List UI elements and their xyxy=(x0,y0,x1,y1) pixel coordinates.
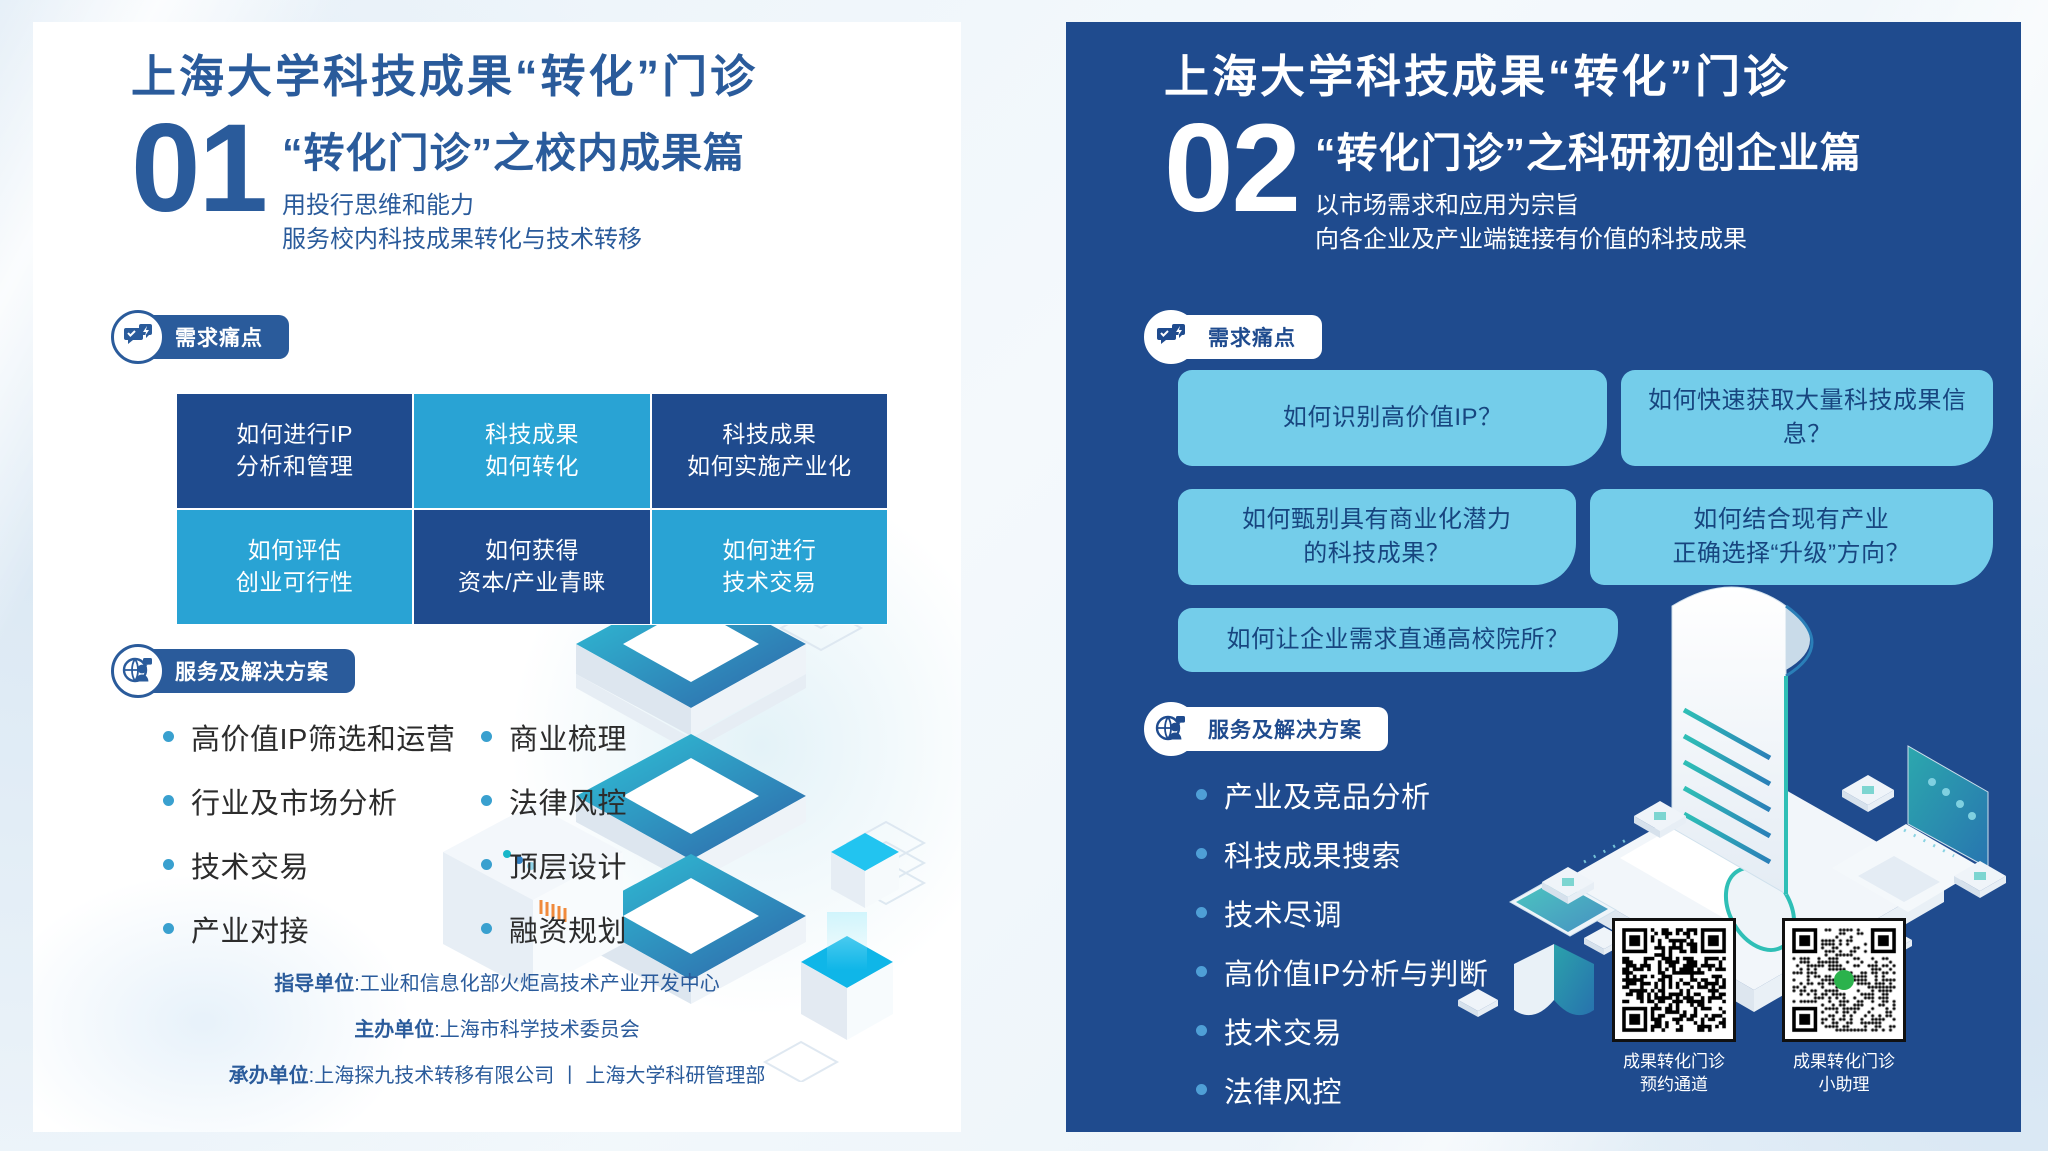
qr-caption-line-2: 小助理 xyxy=(1782,1074,1906,1097)
bullet-dot-icon xyxy=(1196,789,1207,800)
bullet-dot-icon xyxy=(163,731,174,742)
qr-caption-line-1: 成果转化门诊 xyxy=(1782,1051,1906,1074)
panel-01-services-col2: 商业梳理法律风控顶层设计融资规划 xyxy=(481,716,627,972)
service-list-item-label: 高价值IP分析与判断 xyxy=(1224,951,1488,993)
qr-code-caption: 成果转化门诊预约通道 xyxy=(1612,1051,1736,1097)
service-list-item: 团队分析 xyxy=(1196,1128,1488,1132)
panel-02-header: 上海大学科技成果“转化”门诊 02 “转化门诊”之科研初创企业篇 以市场需求和应… xyxy=(1164,52,2021,257)
service-list-item-label: 技术尽调 xyxy=(1224,892,1342,934)
service-list-item-label: 科技成果搜索 xyxy=(1224,833,1401,875)
panel-01-service-pill[interactable]: 服务及解决方案 xyxy=(111,644,355,698)
panel-01: 上海大学科技成果“转化”门诊 01 “转化门诊”之校内成果篇 用投行思维和能力 … xyxy=(33,22,961,1132)
service-list-item: 技术交易 xyxy=(1196,1010,1488,1052)
pain-bubble: 如何结合现有产业正确选择“升级”方向？ xyxy=(1590,489,1994,585)
bullet-dot-icon xyxy=(1196,848,1207,859)
panel-02-kicker: 上海大学科技成果“转化”门诊 xyxy=(1164,52,2021,102)
panel-01-services-col1: 高价值IP筛选和运营行业及市场分析技术交易产业对接 xyxy=(163,716,455,972)
service-list-item-label: 团队分析 xyxy=(1224,1128,1342,1132)
panel-02-number: 02 xyxy=(1164,116,1299,221)
bullet-dot-icon xyxy=(481,923,492,934)
panel-02-services: 产业及竞品分析科技成果搜索技术尽调高价值IP分析与判断技术交易法律风控团队分析 xyxy=(1196,774,1488,1132)
service-list-item: 科技成果搜索 xyxy=(1196,833,1488,875)
service-list-item: 产业对接 xyxy=(163,908,455,950)
service-list-item: 顶层设计 xyxy=(481,844,627,886)
credit-label: 主办单位 xyxy=(354,1019,434,1041)
panel-02-pain-bubbles: 如何识别高价值IP？如何快速获取大量科技成果信息？如何甄别具有商业化潜力的科技成… xyxy=(1178,370,1993,695)
panel-01-kicker: 上海大学科技成果“转化”门诊 xyxy=(131,52,961,102)
qr-caption-line-1: 成果转化门诊 xyxy=(1612,1051,1736,1074)
panel-01-header: 上海大学科技成果“转化”门诊 01 “转化门诊”之校内成果篇 用投行思维和能力 … xyxy=(131,52,961,257)
service-list-item: 融资规划 xyxy=(481,908,627,950)
service-list-item-label: 法律风控 xyxy=(509,780,627,822)
chat-lightning-icon xyxy=(1144,310,1198,364)
panel-02-tagline-1: 以市场需求和应用为宗旨 xyxy=(1315,189,1862,223)
qr-caption-line-2: 预约通道 xyxy=(1612,1074,1736,1097)
pain-bubble: 如何甄别具有商业化潜力的科技成果？ xyxy=(1178,489,1576,585)
service-list-item-label: 融资规划 xyxy=(509,908,627,950)
service-list-item-label: 法律风控 xyxy=(1224,1069,1342,1111)
panel-01-subtitle: “转化门诊”之校内成果篇 xyxy=(282,130,745,177)
credit-line: 主办单位:上海市科学技术委员会 xyxy=(33,1018,961,1042)
credit-line: 承办单位:上海探九技术转移有限公司 丨 上海大学科研管理部 xyxy=(33,1064,961,1088)
panel-01-pain-pill[interactable]: 需求痛点 xyxy=(111,310,289,364)
bullet-dot-icon xyxy=(481,859,492,870)
credit-line: 指导单位:工业和信息化部火炬高技术产业开发中心 xyxy=(33,972,961,996)
qr-code-caption: 成果转化门诊小助理 xyxy=(1782,1051,1906,1097)
pain-grid-cell: 科技成果如何转化 xyxy=(413,393,650,509)
panel-01-credits: 指导单位:工业和信息化部火炬高技术产业开发中心主办单位:上海市科学技术委员会承办… xyxy=(33,972,961,1110)
panel-02-subtitle: “转化门诊”之科研初创企业篇 xyxy=(1315,130,1862,177)
pain-grid-cell: 如何获得资本/产业青睐 xyxy=(413,509,650,625)
panel-01-tagline-2: 服务校内科技成果转化与技术转移 xyxy=(282,223,745,257)
service-list-item: 法律风控 xyxy=(481,780,627,822)
panel-02-tagline-2: 向各企业及产业端链接有价值的科技成果 xyxy=(1315,223,1862,257)
service-list-item: 行业及市场分析 xyxy=(163,780,455,822)
service-list-item: 技术尽调 xyxy=(1196,892,1488,934)
qr-code-image[interactable] xyxy=(1612,918,1736,1042)
bullet-dot-icon xyxy=(163,795,174,806)
pain-bubble: 如何让企业需求直通高校院所？ xyxy=(1178,608,1618,672)
infographic-stage: 上海大学科技成果“转化”门诊 01 “转化门诊”之校内成果篇 用投行思维和能力 … xyxy=(0,0,2048,1151)
service-list-item: 商业梳理 xyxy=(481,716,627,758)
pain-grid-cell: 科技成果如何实施产业化 xyxy=(651,393,888,509)
service-list-item: 高价值IP分析与判断 xyxy=(1196,951,1488,993)
bullet-dot-icon xyxy=(1196,966,1207,977)
service-list-item-label: 高价值IP筛选和运营 xyxy=(191,716,455,758)
pain-bubble: 如何快速获取大量科技成果信息？ xyxy=(1621,370,1993,466)
qr-code-image[interactable] xyxy=(1782,918,1906,1042)
service-list-item: 技术交易 xyxy=(163,844,455,886)
bullet-dot-icon xyxy=(163,859,174,870)
bullet-dot-icon xyxy=(163,923,174,934)
bullet-dot-icon xyxy=(1196,1084,1207,1095)
globe-person-icon xyxy=(1144,702,1198,756)
chat-lightning-icon xyxy=(111,310,165,364)
pain-bubble-row: 如何识别高价值IP？如何快速获取大量科技成果信息？ xyxy=(1178,370,1993,466)
pain-bubble-row: 如何让企业需求直通高校院所？ xyxy=(1178,608,1993,672)
panel-01-pain-grid: 如何进行IP分析和管理科技成果如何转化科技成果如何实施产业化如何评估创业可行性如… xyxy=(176,393,888,625)
bullet-dot-icon xyxy=(1196,907,1207,918)
pain-bubble-row: 如何甄别具有商业化潜力的科技成果？如何结合现有产业正确选择“升级”方向？ xyxy=(1178,489,1993,585)
credit-label: 指导单位 xyxy=(274,973,354,995)
service-list-item-label: 产业对接 xyxy=(191,908,309,950)
service-list-item-label: 技术交易 xyxy=(1224,1010,1342,1052)
credit-label: 承办单位 xyxy=(229,1065,309,1087)
qr-code-area: 成果转化门诊预约通道成果转化门诊小助理 xyxy=(1612,918,1906,1097)
panel-01-number: 01 xyxy=(131,116,266,221)
panel-02-pain-pill[interactable]: 需求痛点 xyxy=(1144,310,1322,364)
globe-person-icon xyxy=(111,644,165,698)
bullet-dot-icon xyxy=(481,731,492,742)
service-list-item-label: 顶层设计 xyxy=(509,844,627,886)
pain-grid-cell: 如何进行IP分析和管理 xyxy=(176,393,413,509)
wechat-logo-icon xyxy=(1834,970,1854,990)
pain-grid-cell: 如何进行技术交易 xyxy=(651,509,888,625)
bullet-dot-icon xyxy=(481,795,492,806)
panel-02-service-pill[interactable]: 服务及解决方案 xyxy=(1144,702,1388,756)
service-list-item: 法律风控 xyxy=(1196,1069,1488,1111)
service-list-item-label: 技术交易 xyxy=(191,844,309,886)
qr-code-pattern xyxy=(1615,921,1733,1039)
service-list-item-label: 商业梳理 xyxy=(509,716,627,758)
pain-grid-cell: 如何评估创业可行性 xyxy=(176,509,413,625)
service-list-item-label: 行业及市场分析 xyxy=(191,780,398,822)
panel-01-tagline-1: 用投行思维和能力 xyxy=(282,189,745,223)
pain-bubble: 如何识别高价值IP？ xyxy=(1178,370,1607,466)
service-list-item: 产业及竞品分析 xyxy=(1196,774,1488,816)
qr-code-block[interactable]: 成果转化门诊小助理 xyxy=(1782,918,1906,1097)
qr-code-block[interactable]: 成果转化门诊预约通道 xyxy=(1612,918,1736,1097)
service-list-item: 高价值IP筛选和运营 xyxy=(163,716,455,758)
service-list-item-label: 产业及竞品分析 xyxy=(1224,774,1431,816)
bullet-dot-icon xyxy=(1196,1025,1207,1036)
